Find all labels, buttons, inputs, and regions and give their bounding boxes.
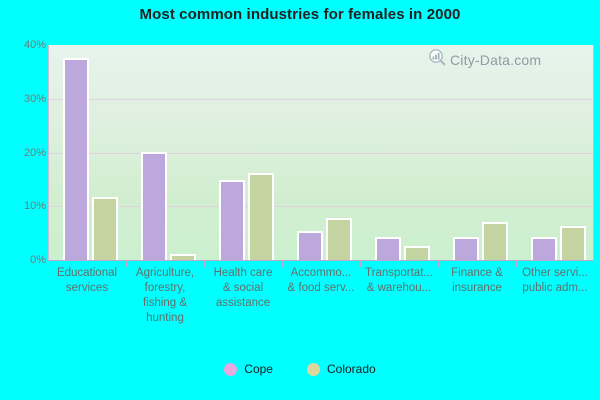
x-axis-label-line: services <box>48 281 126 296</box>
y-axis-tick-label: 20% <box>2 147 46 159</box>
bar-cope[interactable] <box>375 237 401 261</box>
bar-group <box>283 45 361 260</box>
bar-colorado[interactable] <box>92 197 118 260</box>
bar-colorado[interactable] <box>482 222 508 260</box>
legend-label: Colorado <box>327 362 376 376</box>
bar-cope[interactable] <box>219 180 245 260</box>
watermark: City-Data.com <box>428 48 541 71</box>
x-axis-label-line: Other servi... <box>516 266 594 281</box>
bar-group <box>517 45 595 260</box>
x-axis-label-line: Educational <box>48 266 126 281</box>
bar-cope[interactable] <box>63 58 89 260</box>
bar-cope[interactable] <box>297 231 323 260</box>
legend-swatch-icon <box>307 363 320 376</box>
bar-group <box>439 45 517 260</box>
legend-item-cope[interactable]: Cope <box>224 362 273 376</box>
legend-swatch-icon <box>224 363 237 376</box>
bar-cope[interactable] <box>141 152 167 260</box>
bar-colorado[interactable] <box>170 254 196 260</box>
x-axis-label-line: Accommo... <box>282 266 360 281</box>
x-axis-line <box>48 260 594 261</box>
x-axis-label-line: Health care <box>204 266 282 281</box>
watermark-text: City-Data.com <box>450 52 541 68</box>
x-axis-label-line: hunting <box>126 311 204 326</box>
x-axis-label: Finance &insurance <box>438 266 516 296</box>
x-axis-label-line: public adm... <box>516 281 594 296</box>
chart-title: Most common industries for females in 20… <box>0 6 600 23</box>
chart-container: Most common industries for females in 20… <box>0 0 600 400</box>
y-axis-tick-label: 10% <box>2 200 46 212</box>
bar-group <box>205 45 283 260</box>
x-axis-label-line: Transportat... <box>360 266 438 281</box>
x-axis-label-line: assistance <box>204 296 282 311</box>
x-axis-label: Agriculture,forestry,fishing &hunting <box>126 266 204 326</box>
bar-group <box>361 45 439 260</box>
bar-series-layer <box>49 45 593 260</box>
bar-colorado[interactable] <box>560 226 586 260</box>
magnifier-bar-chart-icon <box>428 48 446 71</box>
x-axis-label: Other servi...public adm... <box>516 266 594 296</box>
x-axis-label-line: & warehou... <box>360 281 438 296</box>
bar-colorado[interactable] <box>248 173 274 260</box>
x-axis-label: Health care& socialassistance <box>204 266 282 311</box>
bar-colorado[interactable] <box>404 246 430 260</box>
bar-cope[interactable] <box>453 237 479 261</box>
legend-item-colorado[interactable]: Colorado <box>307 362 376 376</box>
chart-legend: CopeColorado <box>0 362 600 376</box>
legend-label: Cope <box>244 362 273 376</box>
x-axis-label-line: & social <box>204 281 282 296</box>
bar-group <box>127 45 205 260</box>
bar-group <box>49 45 127 260</box>
x-axis-label: Transportat...& warehou... <box>360 266 438 296</box>
x-axis-labels: EducationalservicesAgriculture,forestry,… <box>48 266 594 356</box>
x-axis-label-line: Finance & <box>438 266 516 281</box>
bar-cope[interactable] <box>531 237 557 261</box>
x-axis-label-line: fishing & <box>126 296 204 311</box>
x-axis-label-line: Agriculture, <box>126 266 204 281</box>
y-axis-tick-label: 30% <box>2 93 46 105</box>
y-axis-tick-label: 40% <box>2 39 46 51</box>
y-axis: 0%10%20%30%40% <box>0 0 46 400</box>
x-axis-label: Accommo...& food serv... <box>282 266 360 296</box>
x-axis-label-line: & food serv... <box>282 281 360 296</box>
bar-colorado[interactable] <box>326 218 352 260</box>
x-axis-label-line: insurance <box>438 281 516 296</box>
y-axis-tick-label: 0% <box>2 254 46 266</box>
x-axis-label: Educationalservices <box>48 266 126 296</box>
x-axis-label-line: forestry, <box>126 281 204 296</box>
